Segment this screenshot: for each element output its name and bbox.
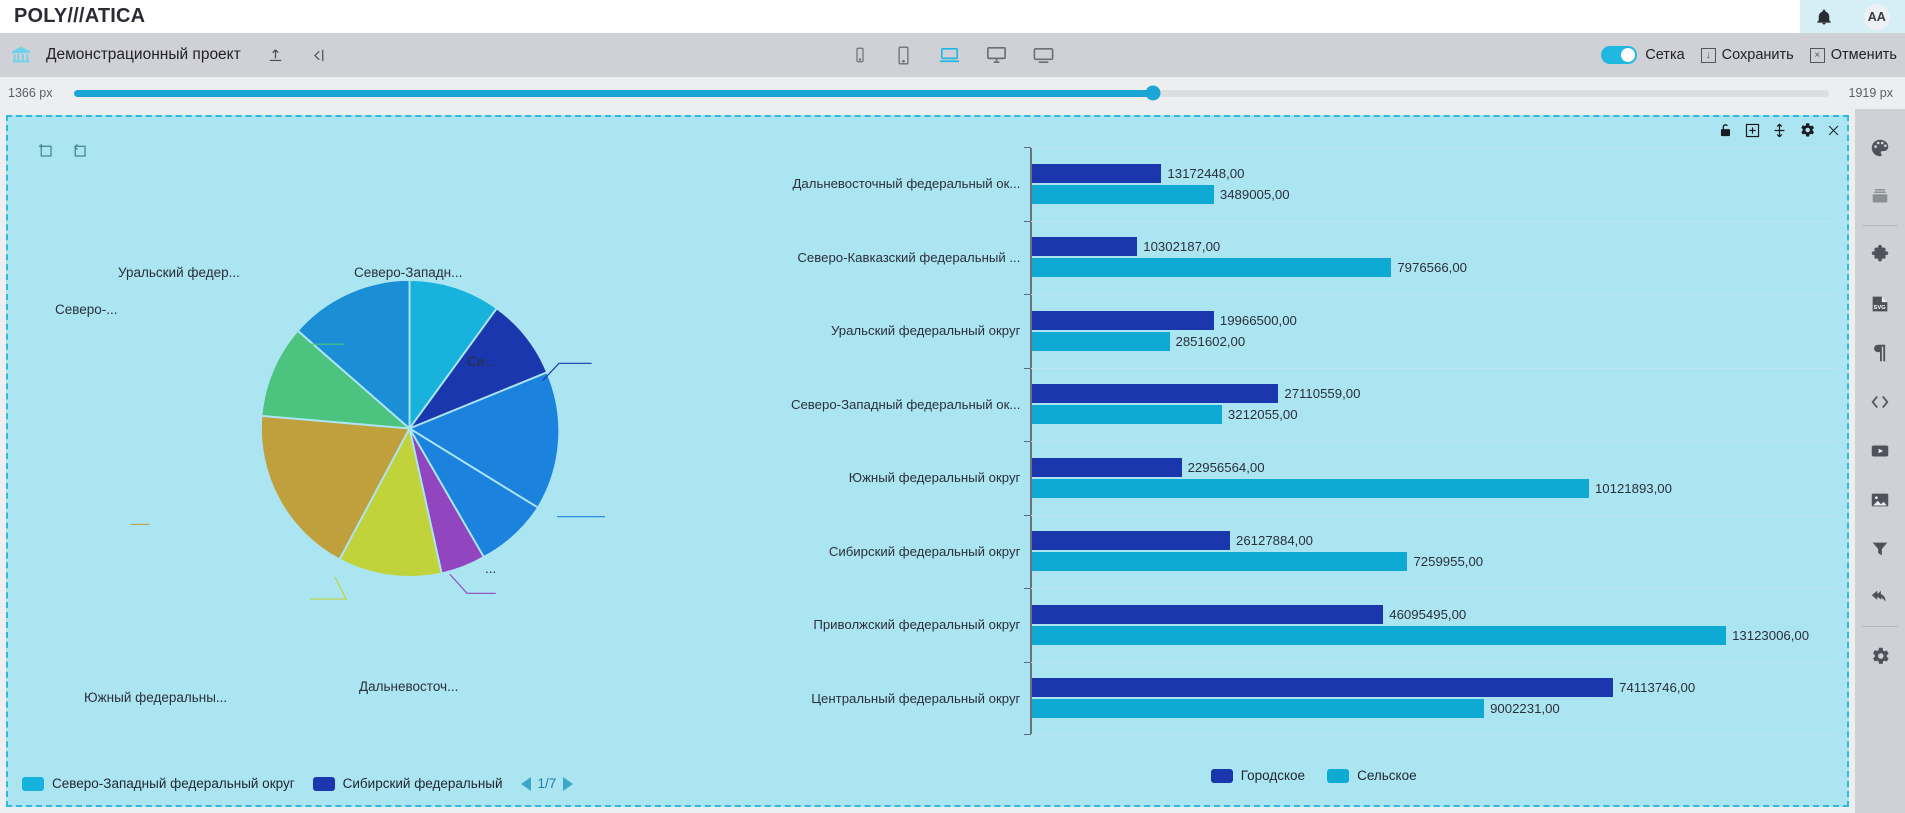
bar-value-urban: 27110559,00 [1284, 386, 1360, 401]
cancel-button-label: Отменить [1831, 47, 1897, 63]
gridline [1030, 221, 1837, 222]
bar-value-rural: 3489005,00 [1220, 187, 1290, 202]
undo-icon[interactable] [1855, 573, 1905, 622]
table-row[interactable]: Северо-Западный федеральный ок... 271105… [780, 368, 1837, 442]
bar-plot-cell: 26127884,00 7259955,00 [1030, 515, 1837, 589]
table-row[interactable]: Южный федеральный округ 22956564,00 1012… [780, 441, 1837, 515]
axis-tick [1024, 441, 1031, 442]
project-toolbar: Демонстрационный проект [0, 33, 1905, 77]
device-desktop[interactable] [985, 44, 1008, 67]
bar-rural[interactable] [1032, 258, 1391, 277]
bar-legend-item-urban[interactable]: Городское [1211, 768, 1305, 783]
bar-value-urban: 46095495,00 [1389, 607, 1466, 622]
bar-plot-cell: 27110559,00 3212055,00 [1030, 368, 1837, 442]
collapse-left-icon[interactable] [310, 47, 327, 64]
canvas-width-slider[interactable] [74, 90, 1829, 97]
bar-value-rural: 2851602,00 [1176, 334, 1246, 349]
gridline [1030, 734, 1837, 735]
table-row[interactable]: Северо-Кавказский федеральный ... 103021… [780, 221, 1837, 295]
axis-tick [1024, 662, 1031, 663]
close-box-icon: × [1810, 48, 1825, 63]
right-tool-rail: SVG [1855, 109, 1905, 813]
device-mobile-small[interactable] [851, 46, 869, 64]
pie-slices [261, 280, 559, 577]
bar-urban[interactable] [1032, 237, 1137, 256]
bar-legend-swatch-rural [1327, 769, 1349, 783]
upload-icon[interactable] [267, 47, 284, 64]
bar-urban[interactable] [1032, 678, 1613, 697]
logo-text-left: POLY [14, 5, 67, 27]
bar-value-urban: 10302187,00 [1143, 239, 1220, 254]
axis-tick [1024, 221, 1031, 222]
pie-legend-pager: 1/7 [521, 776, 574, 791]
save-button[interactable]: ↓ Сохранить [1701, 47, 1794, 63]
download-box-icon: ↓ [1701, 48, 1716, 63]
bar-category-label: Дальневосточный федеральный ок... [780, 176, 1030, 191]
pager-text: 1/7 [538, 776, 557, 791]
pie-legend-label-0: Северо-Западный федеральный округ [52, 776, 295, 791]
bar-value-urban: 22956564,00 [1188, 460, 1265, 475]
bar-value-rural: 7259955,00 [1413, 554, 1483, 569]
pie-legend-label-1: Сибирский федеральный [343, 776, 503, 791]
bar-urban[interactable] [1032, 605, 1383, 624]
brand-bar: POLY///ATICA AA [0, 0, 1905, 33]
bar-urban[interactable] [1032, 531, 1230, 550]
project-toolbar-actions: Сетка ↓ Сохранить × Отменить [1601, 46, 1897, 64]
bar-rural[interactable] [1032, 479, 1589, 498]
container-icon[interactable] [1855, 172, 1905, 221]
bar-rural[interactable] [1032, 552, 1407, 571]
bell-icon[interactable] [1815, 8, 1833, 26]
bar-urban[interactable] [1032, 458, 1181, 477]
bar-category-label: Центральный федеральный округ [780, 691, 1030, 706]
gridline [1030, 294, 1837, 295]
video-icon[interactable] [1855, 426, 1905, 475]
bar-value-urban: 26127884,00 [1236, 533, 1313, 548]
slider-max-label: 1919 px [1849, 86, 1893, 100]
chevron-left-icon[interactable] [521, 777, 531, 791]
pie-label-siberia: Си... [467, 354, 496, 369]
logo[interactable]: POLY///ATICA [0, 5, 145, 28]
slider-knob[interactable] [1146, 86, 1161, 101]
canvas-width-slider-bar: 1366 px 1919 px [0, 77, 1905, 109]
svg-text:SVG: SVG [1874, 305, 1887, 311]
axis-tick [1024, 368, 1031, 369]
logo-slashes: /// [67, 5, 84, 27]
page-title: Демонстрационный проект [46, 46, 241, 64]
device-laptop[interactable] [938, 44, 961, 67]
bar-plot-cell: 74113746,00 9002231,00 [1030, 662, 1837, 736]
rail-divider [1862, 225, 1898, 226]
bar-rural[interactable] [1032, 626, 1726, 645]
slider-fill [74, 90, 1153, 97]
pie-label-fareast: Дальневосточ... [359, 679, 458, 694]
bar-plot-cell: 13172448,00 3489005,00 [1030, 147, 1837, 221]
table-row[interactable]: Дальневосточный федеральный ок... 131724… [780, 147, 1837, 221]
pie-chart[interactable]: Уральский федер... Северо-... Северо-Зап… [8, 117, 780, 805]
gridline [1030, 662, 1837, 663]
table-row[interactable]: Приволжский федеральный округ 46095495,0… [780, 588, 1837, 662]
bar-value-urban: 74113746,00 [1619, 680, 1695, 695]
pie-chart-svg [8, 141, 780, 678]
pie-label-south: ... [485, 561, 496, 576]
device-preview-switcher [851, 44, 1055, 67]
bar-category-label: Северо-Западный федеральный ок... [780, 397, 1030, 412]
bar-chart[interactable]: Дальневосточный федеральный ок... 131724… [780, 117, 1847, 805]
bar-plot-cell: 10302187,00 7976566,00 [1030, 221, 1837, 295]
bar-category-label: Северо-Кавказский федеральный ... [780, 250, 1030, 265]
avatar[interactable]: AA [1864, 4, 1890, 30]
bar-plot-cell: 22956564,00 10121893,00 [1030, 441, 1837, 515]
palette-icon[interactable] [1855, 123, 1905, 172]
bar-value-rural: 9002231,00 [1490, 701, 1560, 716]
axis-tick [1024, 588, 1031, 589]
device-tv[interactable] [1032, 44, 1055, 67]
bar-legend-label-urban: Городское [1241, 768, 1305, 783]
pie-legend-swatch-1 [313, 777, 335, 791]
bar-urban[interactable] [1032, 384, 1278, 403]
table-row[interactable]: Центральный федеральный округ 74113746,0… [780, 662, 1837, 736]
grid-toggle-label: Сетка [1645, 47, 1684, 63]
image-icon[interactable] [1855, 475, 1905, 524]
pie-label-ural: Уральский федер... [118, 265, 240, 280]
bar-value-rural: 13123006,00 [1732, 628, 1809, 643]
bar-legend-label-rural: Сельское [1357, 768, 1417, 783]
axis-tick [1024, 734, 1031, 735]
pie-legend-swatch-0 [22, 777, 44, 791]
code-icon[interactable] [1855, 377, 1905, 426]
bar-plot-cell: 46095495,00 13123006,00 [1030, 588, 1837, 662]
bar-value-rural: 10121893,00 [1595, 481, 1672, 496]
pie-label-nkavkaz: Северо-... [55, 302, 118, 317]
chart-panel[interactable]: Уральский федер... Северо-... Северо-Зап… [6, 115, 1849, 807]
bar-value-urban: 13172448,00 [1167, 166, 1244, 181]
bar-chart-rows: Дальневосточный федеральный ок... 131724… [780, 147, 1837, 735]
bar-rural[interactable] [1032, 332, 1169, 351]
axis-tick [1024, 147, 1031, 148]
axis-tick [1024, 294, 1031, 295]
bar-category-label: Уральский федеральный округ [780, 323, 1030, 338]
gridline [1030, 368, 1837, 369]
table-row[interactable]: Уральский федеральный округ 19966500,00 … [780, 294, 1837, 368]
chevron-right-icon[interactable] [563, 777, 573, 791]
save-button-label: Сохранить [1722, 47, 1794, 63]
puzzle-icon[interactable] [1855, 230, 1905, 279]
bank-icon [10, 44, 32, 66]
bar-plot-cell: 19966500,00 2851602,00 [1030, 294, 1837, 368]
bar-legend-item-rural[interactable]: Сельское [1327, 768, 1417, 783]
bar-legend: Городское Сельское [780, 768, 1847, 783]
cancel-button[interactable]: × Отменить [1810, 47, 1897, 63]
bar-value-rural: 7976566,00 [1397, 260, 1467, 275]
logo-text-right: ATICA [85, 5, 146, 27]
bar-rural[interactable] [1032, 405, 1222, 424]
bar-legend-swatch-urban [1211, 769, 1233, 783]
bar-value-urban: 19966500,00 [1220, 313, 1297, 328]
pie-legend: Северо-Западный федеральный округ Сибирс… [22, 776, 573, 791]
device-mobile-large[interactable] [893, 45, 914, 66]
rail-divider-2 [1862, 626, 1898, 627]
brand-bar-actions: AA [1800, 0, 1905, 33]
gridline [1030, 515, 1837, 516]
gridline [1030, 441, 1837, 442]
pie-label-central: Южный федеральны... [84, 690, 227, 705]
gridline [1030, 588, 1837, 589]
table-row[interactable]: Сибирский федеральный округ 26127884,00 … [780, 515, 1837, 589]
grid-toggle[interactable]: Сетка [1601, 46, 1684, 64]
gridline [1030, 147, 1837, 148]
axis-tick [1024, 515, 1031, 516]
bar-urban[interactable] [1032, 311, 1213, 330]
svg-icon[interactable]: SVG [1855, 279, 1905, 328]
bar-category-label: Сибирский федеральный округ [780, 544, 1030, 559]
bar-rural[interactable] [1032, 699, 1484, 718]
bar-urban[interactable] [1032, 164, 1161, 183]
bar-category-label: Южный федеральный округ [780, 470, 1030, 485]
bar-rural[interactable] [1032, 185, 1213, 204]
filter-icon[interactable] [1855, 524, 1905, 573]
settings-gear-icon[interactable] [1855, 631, 1905, 680]
bar-value-rural: 3212055,00 [1228, 407, 1298, 422]
bar-category-label: Приволжский федеральный округ [780, 617, 1030, 632]
grid-toggle-switch[interactable] [1601, 46, 1637, 64]
editor-canvas: SVG [0, 109, 1905, 813]
pie-label-nwest: Северо-Западн... [354, 265, 462, 280]
paragraph-icon[interactable] [1855, 328, 1905, 377]
slider-min-label: 1366 px [8, 86, 52, 100]
